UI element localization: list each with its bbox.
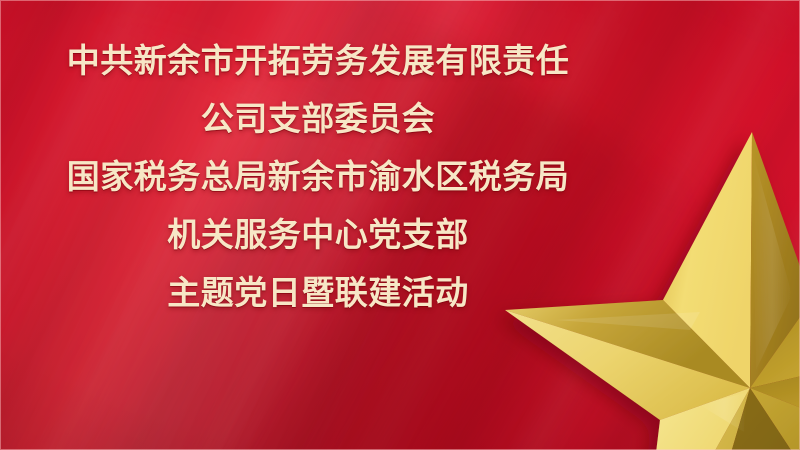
headline-line-4: 机关服务中心党支部	[0, 218, 636, 251]
headline-block: 中共新余市开拓劳务发展有限责任 公司支部委员会 国家税务总局新余市渝水区税务局 …	[0, 44, 636, 309]
headline-line-3: 国家税务总局新余市渝水区税务局	[0, 160, 636, 193]
headline-line-5: 主题党日暨联建活动	[0, 276, 636, 309]
banner-canvas: 中共新余市开拓劳务发展有限责任 公司支部委员会 国家税务总局新余市渝水区税务局 …	[0, 0, 800, 450]
headline-line-2: 公司支部委员会	[0, 102, 636, 135]
headline-line-1: 中共新余市开拓劳务发展有限责任	[0, 44, 636, 77]
